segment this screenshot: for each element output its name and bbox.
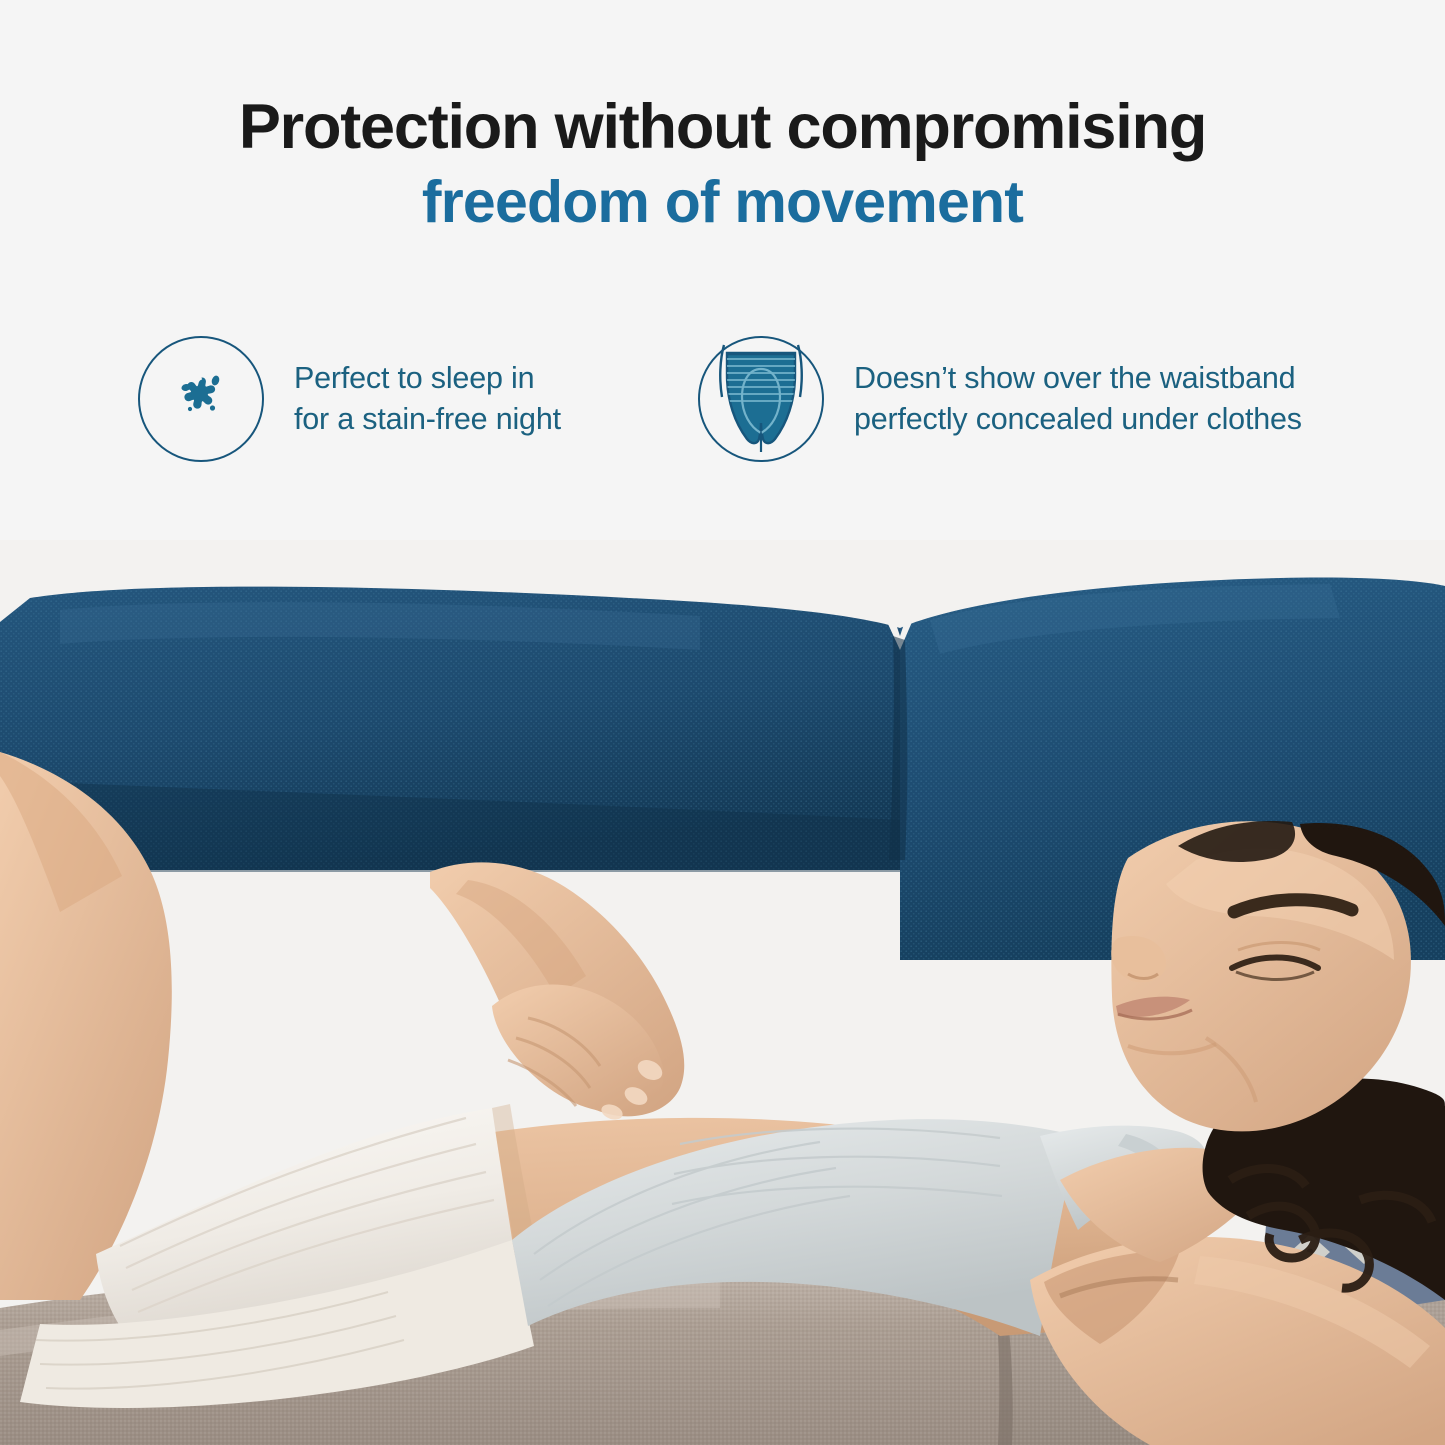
feature-label-discreet: Doesn’t show over the waistband perfectl… [854,358,1302,439]
feature-item-sleep: Perfect to sleep in for a stain-free nig… [138,336,561,462]
photo-illustration [0,540,1445,1445]
feature-icon-circle [138,336,264,462]
feature-icon-circle [698,336,824,462]
splat-stain-icon [166,362,236,437]
feature-label-line-1: Perfect to sleep in [294,358,561,399]
feature-label-line-1: Doesn’t show over the waistband [854,358,1302,399]
headline-line-1: Protection without compromising [0,96,1445,159]
feature-row: Perfect to sleep in for a stain-free nig… [0,336,1445,476]
underwear-brief-icon [709,339,813,460]
feature-label-line-2: for a stain-free night [294,399,561,440]
feature-item-discreet: Doesn’t show over the waistband perfectl… [698,336,1302,462]
header-section: Protection without compromising freedom … [0,0,1445,540]
promo-banner: Protection without compromising freedom … [0,0,1445,1445]
lifestyle-photo [0,540,1445,1445]
page-title: Protection without compromising freedom … [0,96,1445,232]
feature-label-sleep: Perfect to sleep in for a stain-free nig… [294,358,561,439]
headline-line-2: freedom of movement [0,173,1445,232]
feature-label-line-2: perfectly concealed under clothes [854,399,1302,440]
